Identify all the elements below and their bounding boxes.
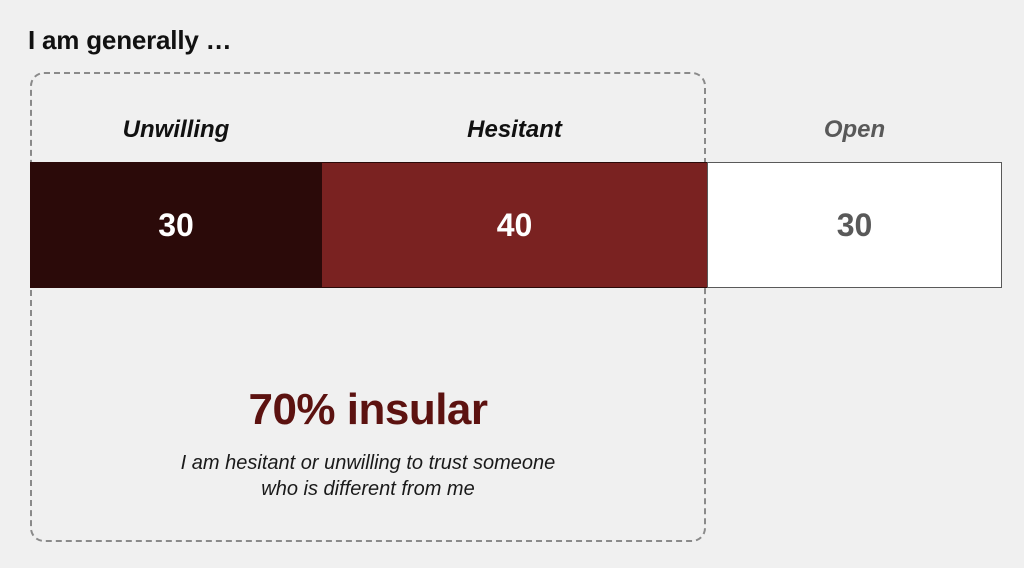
page-title: I am generally … (28, 25, 231, 56)
callout-description-line-1: I am hesitant or unwilling to trust some… (30, 450, 706, 476)
callout-description-line-2: who is different from me (30, 476, 706, 502)
category-label-open: Open (707, 110, 1002, 150)
callout-headline: 70% insular (30, 382, 706, 438)
bar-segment-open: 30 (707, 162, 1002, 288)
callout-description: I am hesitant or unwilling to trust some… (30, 450, 706, 502)
category-label-row: Unwilling Hesitant Open (30, 110, 1002, 150)
category-label-hesitant: Hesitant (322, 110, 707, 150)
bar-value-hesitant: 40 (497, 207, 533, 244)
insular-callout: 70% insular I am hesitant or unwilling t… (30, 382, 706, 502)
slide-canvas: I am generally … Unwilling Hesitant Open… (0, 0, 1024, 568)
bar-value-open: 30 (837, 207, 873, 244)
category-label-unwilling: Unwilling (30, 110, 322, 150)
bar-segment-unwilling: 30 (30, 162, 322, 288)
stacked-bar-chart: 30 40 30 (30, 162, 1002, 288)
bar-value-unwilling: 30 (158, 207, 194, 244)
bar-segment-hesitant: 40 (322, 162, 707, 288)
